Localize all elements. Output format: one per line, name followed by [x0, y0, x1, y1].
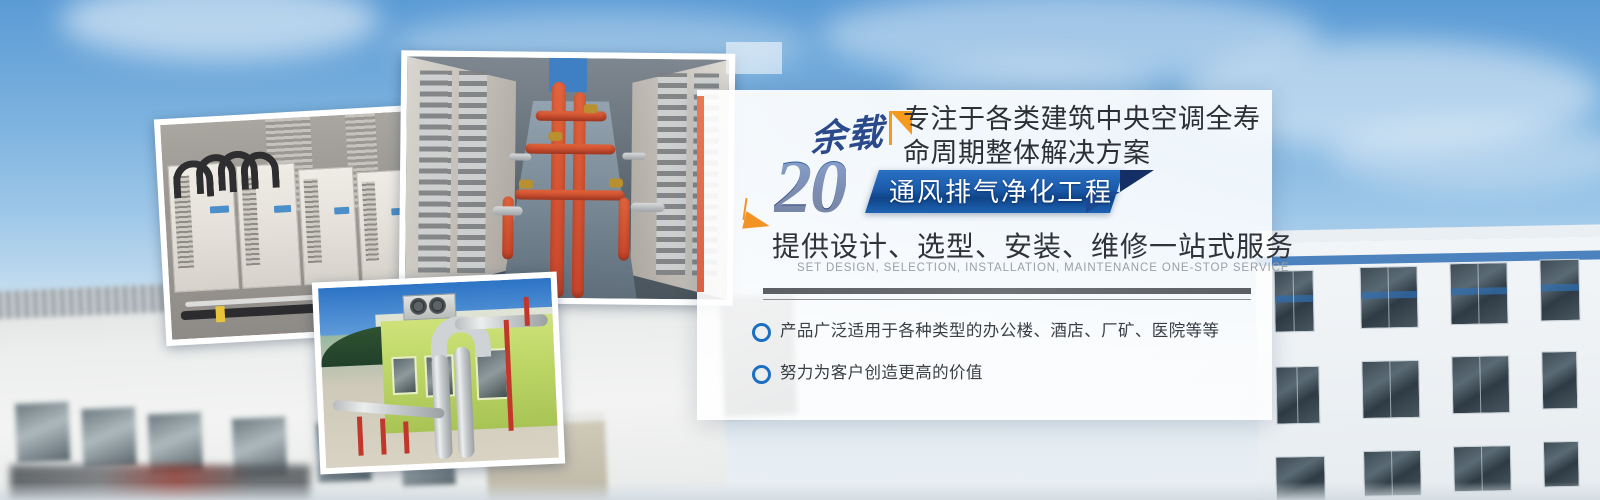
ground-haze [0, 482, 1600, 500]
photo-card-green-building-duct [312, 272, 565, 475]
decorative-glass-square [726, 42, 782, 74]
ribbon-tail-icon [1120, 170, 1154, 192]
circle-bullet-icon [752, 323, 771, 342]
orange-accent-bar [697, 96, 704, 292]
building-window [1361, 360, 1420, 419]
building-window [14, 400, 73, 464]
background-building-right [1255, 236, 1600, 500]
list-item: 产品广泛适用于各种类型的办公楼、酒店、厂矿、医院等等 [752, 315, 1252, 351]
building-window [1275, 366, 1320, 425]
building-window [1543, 441, 1580, 488]
divider-thin [763, 299, 1251, 300]
building-window [1541, 351, 1578, 410]
divider-thick [763, 288, 1251, 294]
list-item-label: 产品广泛适用于各种类型的办公楼、酒店、厂矿、医院等等 [780, 317, 1219, 341]
building-window [80, 406, 139, 470]
subtitle-chinese: 提供设计、选型、安装、维修一站式服务 [772, 225, 1262, 265]
photo-card-red-piping [399, 50, 736, 305]
building-window [1451, 355, 1510, 414]
headline-text: 专注于各类建筑中央空调全寿命周期整体解决方案 [903, 102, 1273, 170]
building-window [1359, 266, 1418, 329]
subtitle-english: SET DESIGN, SELECTION, INSTALLATION, MAI… [797, 262, 1267, 274]
building-window [1539, 259, 1580, 322]
hvac-promo-banner: 余载 20 专注于各类建筑中央空调全寿命周期整体解决方案 通风排气净化工程 提供… [0, 0, 1600, 500]
building-window [1449, 262, 1508, 325]
circle-bullet-icon [752, 365, 771, 384]
list-item-label: 努力为客户创造更高的价值 [780, 359, 983, 383]
list-item: 努力为客户创造更高的价值 [752, 357, 1252, 393]
cloud-decoration [60, 0, 380, 60]
feature-bullet-list: 产品广泛适用于各种类型的办公楼、酒店、厂矿、医院等等 努力为客户创造更高的价值 [752, 315, 1252, 399]
building-window [1274, 270, 1315, 333]
ribbon-label: 通风排气净化工程 [886, 176, 1116, 208]
cloud-decoration [1330, 120, 1600, 190]
years-number-label: 20 [774, 149, 846, 225]
